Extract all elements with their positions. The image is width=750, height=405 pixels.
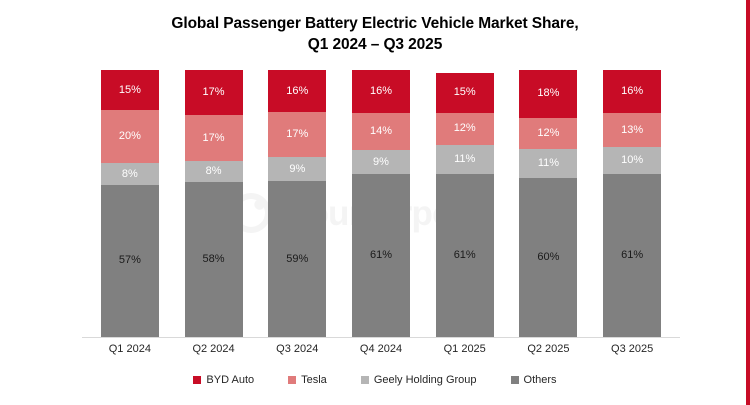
chart-title-line-1: Global Passenger Battery Electric Vehicl… (171, 15, 578, 32)
chart-canvas: Global Passenger Battery Electric Vehicl… (0, 0, 750, 405)
bar-group[interactable]: 15%12%11%61% (436, 70, 494, 337)
x-axis-tick-label: Q2 2024 (172, 343, 256, 355)
bar-segment-label: 17% (286, 129, 308, 140)
bar-segment-label: 20% (119, 131, 141, 142)
bar-segment[interactable]: 16% (268, 70, 326, 112)
legend-swatch-icon (361, 376, 369, 384)
bar-segment-label: 8% (122, 169, 138, 180)
bar-segment[interactable]: 11% (436, 145, 494, 174)
legend-label: BYD Auto (206, 374, 254, 386)
bar-segment-label: 15% (454, 87, 476, 98)
bar-segment-label: 18% (537, 88, 559, 99)
plot-area: 15%20%8%57%17%17%8%58%16%17%9%59%16%14%9… (88, 70, 674, 337)
bar-segment[interactable]: 20% (101, 110, 159, 163)
bar-segment[interactable]: 14% (352, 113, 410, 150)
legend-label: Tesla (301, 374, 327, 386)
bar-group[interactable]: 16%14%9%61% (352, 70, 410, 337)
bar-segment-label: 16% (286, 86, 308, 97)
bar-segment[interactable]: 18% (519, 70, 577, 118)
x-axis-tick-label: Q3 2024 (255, 343, 339, 355)
bar-segment[interactable]: 16% (603, 70, 661, 113)
legend-item[interactable]: Tesla (288, 374, 327, 386)
bar-segment-label: 61% (621, 250, 643, 261)
bar-segment[interactable]: 9% (268, 157, 326, 181)
bar-segment-label: 60% (537, 252, 559, 263)
bar-segment-label: 16% (621, 86, 643, 97)
bar-segment-label: 9% (289, 164, 305, 175)
bar-segment[interactable]: 9% (352, 150, 410, 174)
bar-segment[interactable]: 12% (436, 113, 494, 145)
bar-segment-label: 15% (119, 85, 141, 96)
bar-segment-label: 17% (203, 133, 225, 144)
bar-segment-label: 11% (454, 154, 475, 165)
bar-segment-label: 11% (538, 158, 559, 169)
x-axis-tick-label: Q1 2025 (423, 343, 507, 355)
bar-segment[interactable]: 58% (185, 182, 243, 337)
legend-swatch-icon (193, 376, 201, 384)
bar-segment-label: 10% (621, 155, 643, 166)
bar-segment-label: 9% (373, 157, 389, 168)
bar-segment-label: 57% (119, 255, 141, 266)
bar-segment[interactable]: 16% (352, 70, 410, 113)
bar-segment[interactable]: 59% (268, 181, 326, 337)
x-axis-line (82, 337, 680, 338)
bar-segment[interactable]: 60% (519, 178, 577, 337)
bar-segment[interactable]: 11% (519, 149, 577, 178)
legend-label: Others (524, 374, 557, 386)
bar-segment-label: 16% (370, 86, 392, 97)
bar-segment-label: 12% (454, 123, 476, 134)
bar-segment-label: 58% (203, 254, 225, 265)
bar-segment-label: 59% (286, 254, 308, 265)
bar-group[interactable]: 15%20%8%57% (101, 70, 159, 337)
bar-segment[interactable]: 17% (185, 70, 243, 115)
x-axis-tick-label: Q1 2024 (88, 343, 172, 355)
chart-title-line-2: Q1 2024 – Q3 2025 (0, 35, 750, 56)
chart-title: Global Passenger Battery Electric Vehicl… (0, 14, 750, 56)
bar-group[interactable]: 18%12%11%60% (519, 70, 577, 337)
bar-segment[interactable]: 13% (603, 113, 661, 148)
bar-segment-label: 12% (537, 128, 559, 139)
bar-segment-label: 17% (203, 87, 225, 98)
bar-segment[interactable]: 61% (436, 174, 494, 337)
bar-segment-label: 8% (206, 166, 222, 177)
bar-segment-label: 61% (370, 250, 392, 261)
legend-swatch-icon (511, 376, 519, 384)
x-axis-tick-label: Q2 2025 (507, 343, 591, 355)
bar-segment-label: 61% (454, 250, 476, 261)
bar-segment-label: 13% (621, 125, 643, 136)
bar-segment[interactable]: 12% (519, 118, 577, 150)
bar-group[interactable]: 17%17%8%58% (185, 70, 243, 337)
legend-item[interactable]: Geely Holding Group (361, 374, 477, 386)
x-axis-labels: Q1 2024Q2 2024Q3 2024Q4 2024Q1 2025Q2 20… (88, 343, 674, 365)
bar-group[interactable]: 16%13%10%61% (603, 70, 661, 337)
bar-segment[interactable]: 15% (436, 73, 494, 113)
legend-item[interactable]: BYD Auto (193, 374, 254, 386)
legend-item[interactable]: Others (511, 374, 557, 386)
bar-segment[interactable]: 10% (603, 147, 661, 174)
chart-legend: BYD AutoTeslaGeely Holding GroupOthers (0, 374, 750, 386)
bar-segment[interactable]: 61% (352, 174, 410, 337)
bar-segment[interactable]: 17% (268, 112, 326, 157)
legend-label: Geely Holding Group (374, 374, 477, 386)
bar-segment[interactable]: 8% (185, 161, 243, 182)
right-edge-accent (746, 0, 750, 405)
bar-segment[interactable]: 17% (185, 115, 243, 160)
x-axis-tick-label: Q4 2024 (339, 343, 423, 355)
bar-segment[interactable]: 15% (101, 70, 159, 110)
bar-segment[interactable]: 57% (101, 185, 159, 337)
legend-swatch-icon (288, 376, 296, 384)
bar-segment-label: 14% (370, 126, 392, 137)
bar-segment[interactable]: 61% (603, 174, 661, 337)
x-axis-tick-label: Q3 2025 (590, 343, 674, 355)
bar-group[interactable]: 16%17%9%59% (268, 70, 326, 337)
bar-segment[interactable]: 8% (101, 163, 159, 184)
